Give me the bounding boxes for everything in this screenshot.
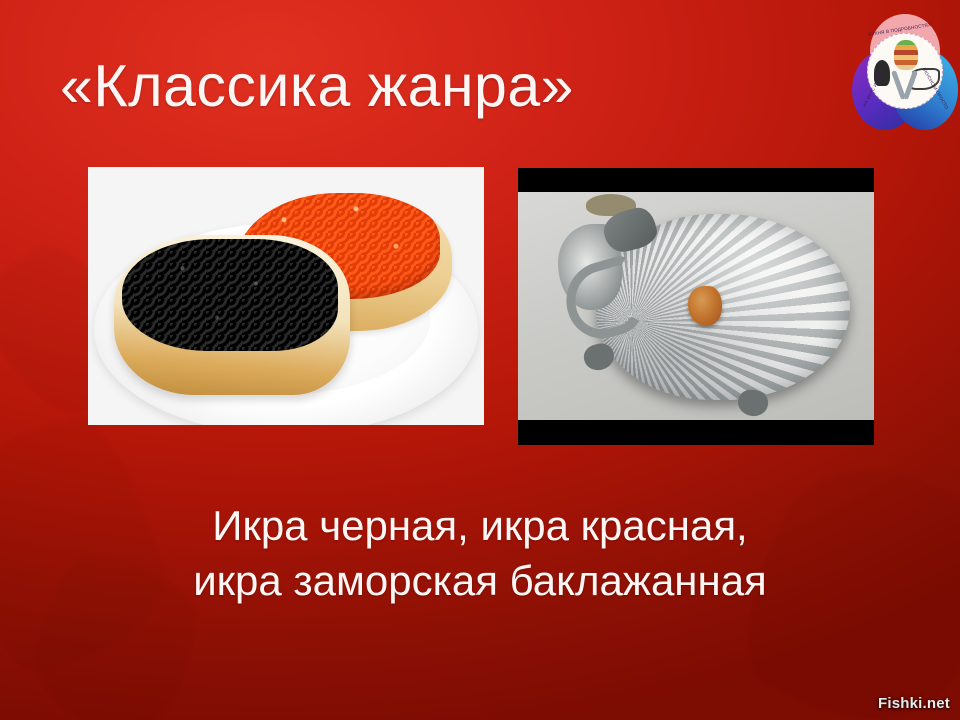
photo-letterbox-bottom [518,420,874,445]
logo-ring-text-right: ВКУСНО И ПРОСТО [922,67,950,110]
black-caviar [122,239,338,351]
logo-ring-text: КУХНЯ В ПОДРОБНОСТЯХ НА ВКУС И ЦВЕТ ВКУС… [852,14,956,132]
site-watermark: Fishki.net [878,695,950,712]
slide-title: «Классика жанра» [60,52,860,120]
caption-line-1: Икра черная, икра красная, [0,498,960,553]
presentation-slide: «Классика жанра» КУХНЯ В ПОДРОБНОСТЯХ НА… [0,0,960,720]
black-caviar-sandwich [114,235,350,395]
culinary-emblem-logo: КУХНЯ В ПОДРОБНОСТЯХ НА ВКУС И ЦВЕТ ВКУС… [852,14,956,132]
logo-ring-text-left: НА ВКУС И ЦВЕТ [862,69,886,107]
eggplant-caviar-portion [688,286,722,326]
logo-ring-text-top: КУХНЯ В ПОДРОБНОСТЯХ [868,22,932,37]
silver-shell-dish-photo [518,168,874,445]
photo-letterbox-top [518,168,874,192]
slide-caption: Икра черная, икра красная, икра заморска… [0,498,960,608]
caption-line-2: икра заморская баклажанная [0,553,960,608]
caviar-sandwiches-photo [88,167,484,425]
